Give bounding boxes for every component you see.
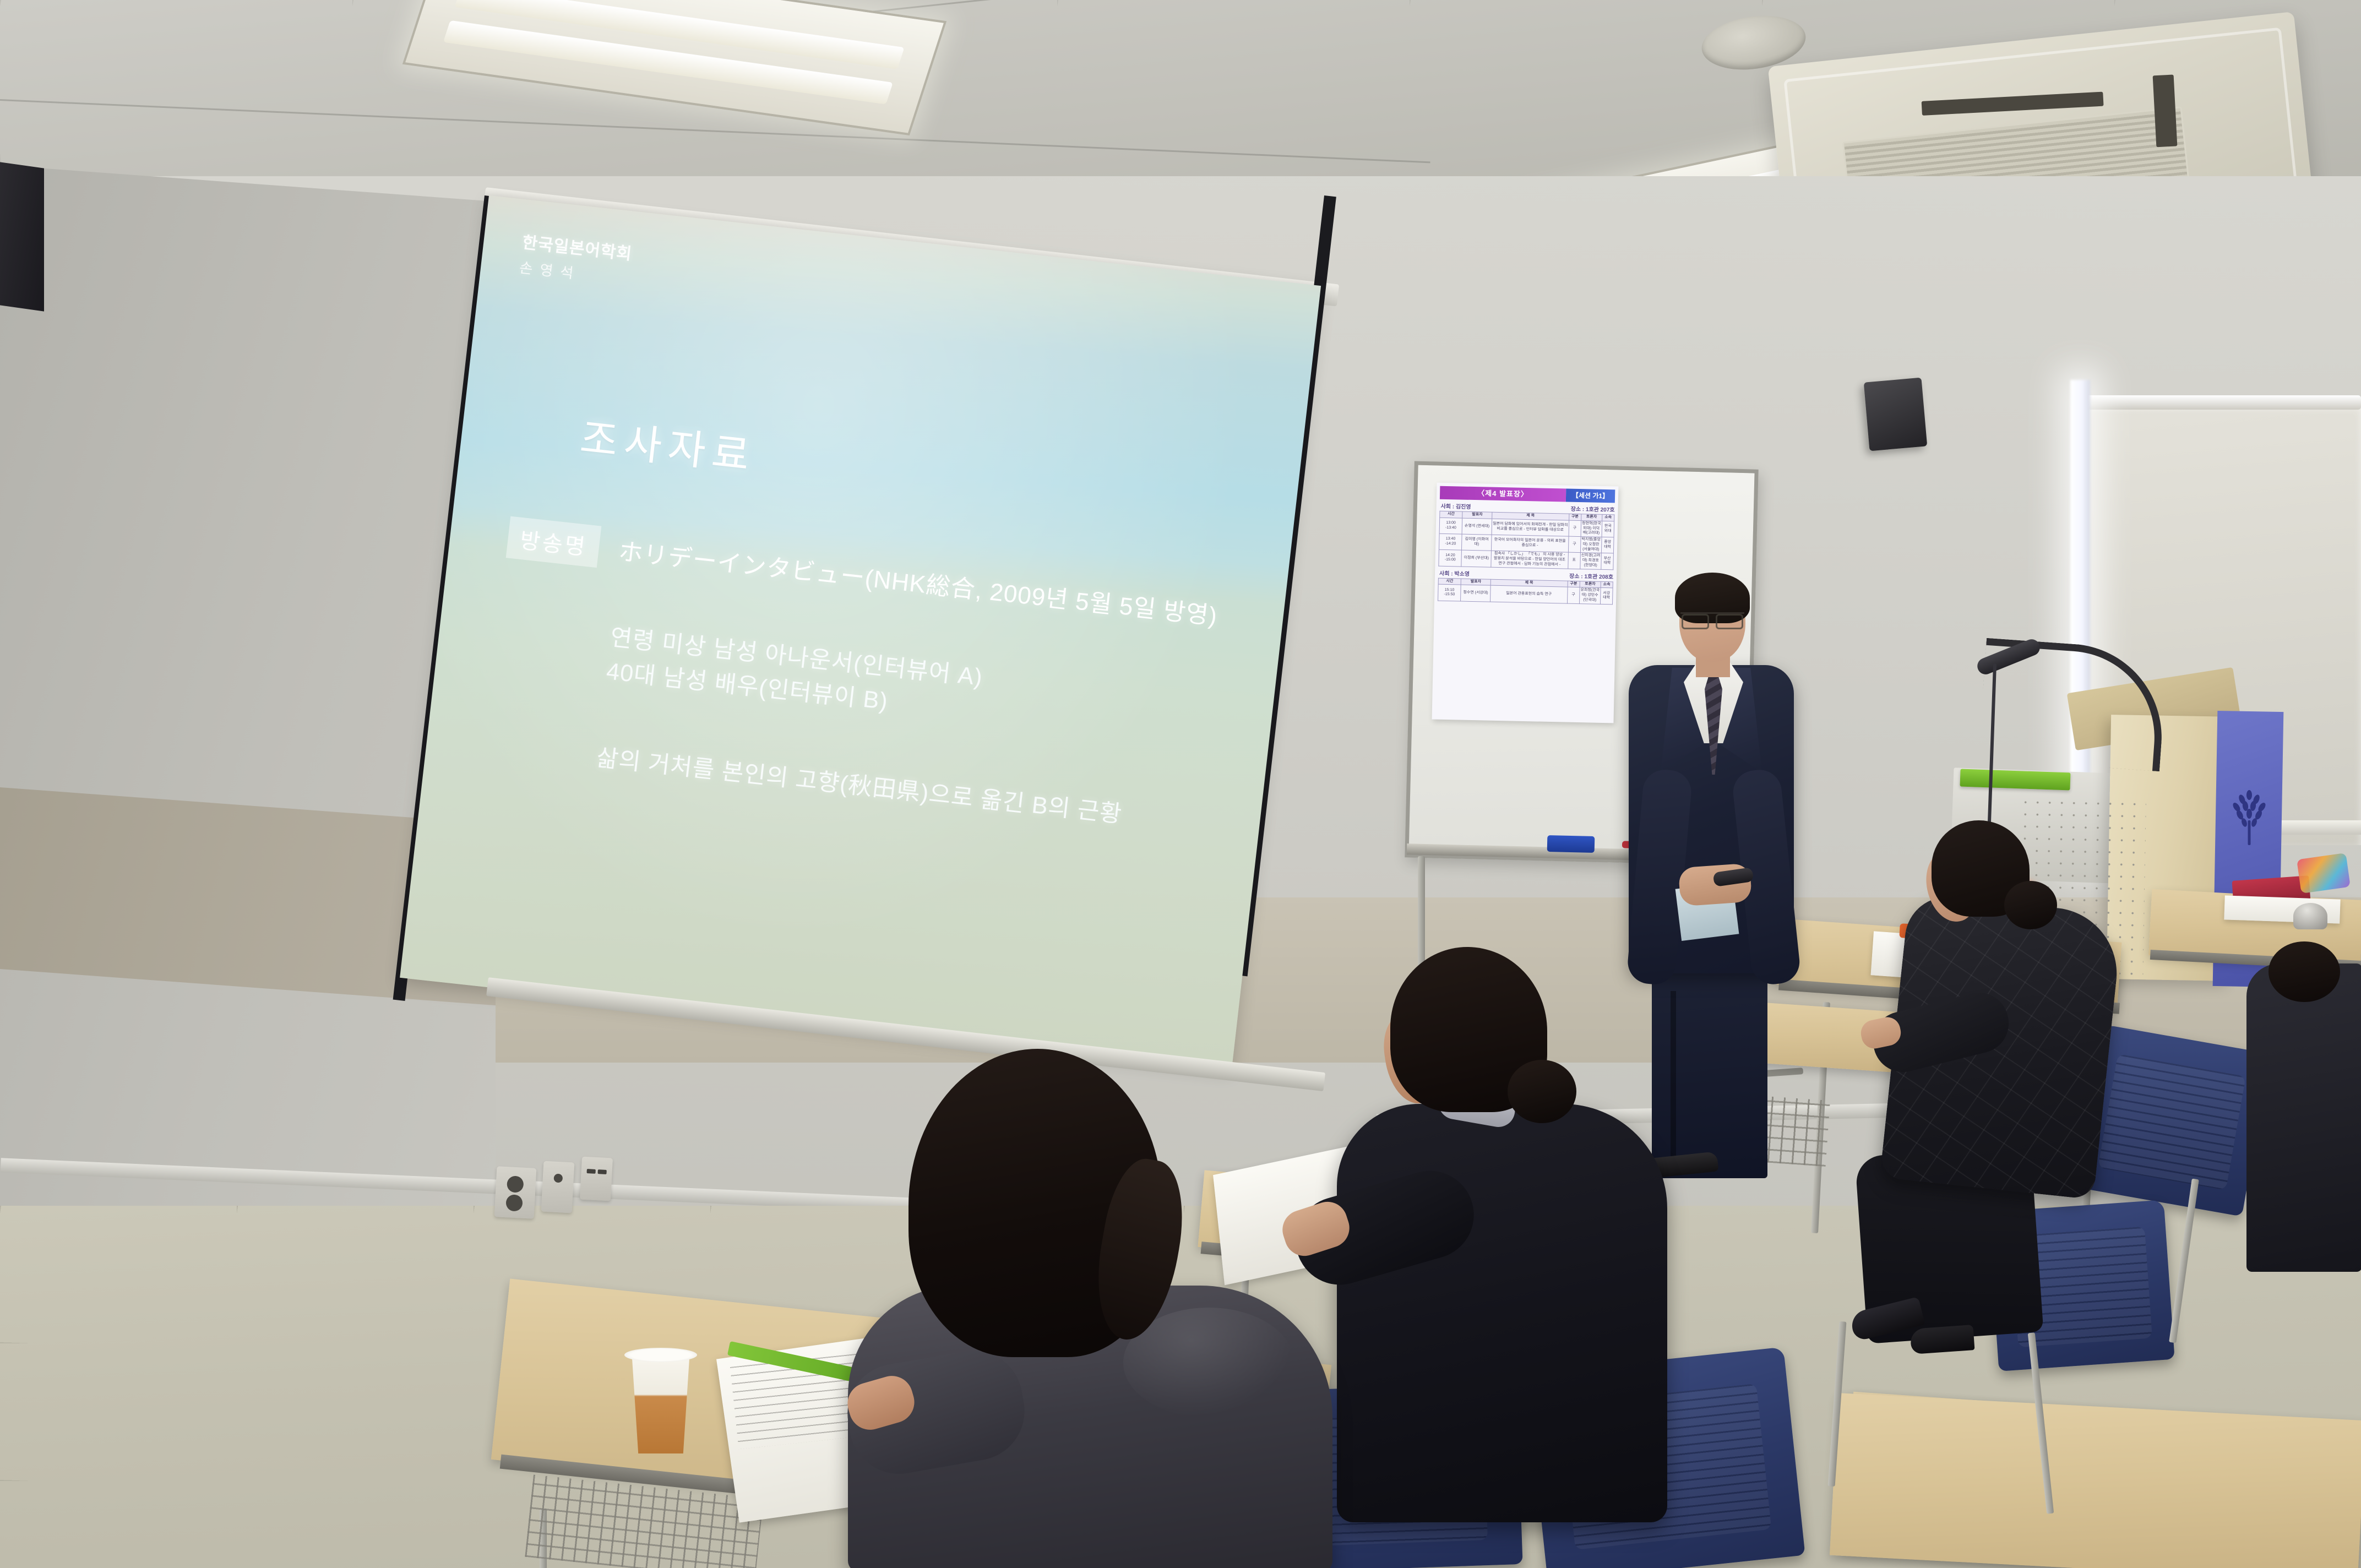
cell-title: 접속사 「しかし」 「でも」 의 사용 양상 - 말뭉치 분석을 바탕으로 - … <box>1491 551 1568 568</box>
cell-discussant: 유희정(건국대) 강민수(단국대) <box>1579 587 1601 604</box>
attendee-head <box>2268 941 2340 1002</box>
cell-title: 한국어 모어화자의 일본어 운용 - 의뢰 표현을 중심으로 - <box>1492 535 1569 552</box>
cell-time: 13:40 -14:20 <box>1439 533 1462 550</box>
poster-header-right: 【세션 가1】 <box>1566 489 1615 503</box>
slide-title: 조사자료 <box>578 405 760 483</box>
cell-affil: 부산 대학 <box>1601 553 1614 570</box>
cell-discussant: 박지영(중앙대) 오정란(서울여대) <box>1580 537 1602 553</box>
eyeglasses-icon <box>1680 612 1744 624</box>
classroom-scene: 한국일본어학회 손 영 석 조사자료 방송명 ホリデーインタビュー(NHK総合,… <box>0 0 2361 1568</box>
col-affil: 소속 <box>1602 514 1614 521</box>
outlet-hole <box>505 1194 523 1212</box>
cell-speaker: 이정희 (부산대) <box>1461 550 1491 567</box>
projection-screen-assembly: 한국일본어학회 손 영 석 조사자료 방송명 ホリデーインタビュー(NHK総合,… <box>474 176 1366 1057</box>
service-bell-icon[interactable] <box>2293 903 2327 929</box>
cell-speaker: 정수연 (서강대) <box>1461 585 1490 601</box>
col-kind: 구분 <box>1569 514 1581 520</box>
high-heel-shoe <box>1910 1325 1975 1354</box>
projected-slide: 한국일본어학회 손 영 석 조사자료 방송명 ホリデーインタビュー(NHK総合,… <box>400 195 1321 1068</box>
poster-section-2-room: 장소 : 1호관 208호 <box>1569 571 1613 580</box>
wall-speaker-icon <box>0 162 44 311</box>
data-port-plate[interactable] <box>580 1157 613 1201</box>
av-port-plate[interactable] <box>541 1161 575 1213</box>
cell-title: 일본어 담화에 있어서의 화제전개 - 한일 담화의 비교를 중심으로 - 인터… <box>1492 519 1569 536</box>
cell-speaker: 손영석 (연세대) <box>1462 518 1492 535</box>
col-affil: 소속 <box>1601 581 1613 588</box>
outlet-hole <box>507 1175 524 1193</box>
poster-header-left: 〈제4 발표장〉 <box>1440 486 1566 502</box>
whiteboard-eraser[interactable] <box>1547 835 1595 853</box>
cell-time: 15:10 -15:50 <box>1438 584 1461 601</box>
attendee-hair-bun <box>2004 881 2057 929</box>
cell-time: 13:00 -13:40 <box>1439 518 1462 534</box>
cell-kind: 구 <box>1569 520 1581 537</box>
col-discussant: 토론자 <box>1581 514 1602 521</box>
col-discussant: 토론자 <box>1580 581 1601 588</box>
desk <box>1830 1393 2361 1568</box>
cell-discussant: 신미경(고려대) 최경호(한양대) <box>1580 553 1602 569</box>
poster-schedule-table-1: 시간 발표자 제 목 구분 토론자 소속 13:00 -13:40 손영석 (연… <box>1438 511 1614 570</box>
cell-kind: 구 <box>1568 536 1581 553</box>
poster-section-1-chair: 사회 : 김진영 <box>1441 502 1471 510</box>
paper-cup[interactable] <box>628 1352 694 1453</box>
table-row: 15:10 -15:50 정수연 (서강대) 일본어 관용표현의 습득 연구 구… <box>1438 584 1613 604</box>
col-time: 시간 <box>1440 511 1462 518</box>
cell-affil: 중앙 대학 <box>1601 537 1614 553</box>
attendee-torso <box>2246 963 2361 1272</box>
poster-section-2-chair: 사회 : 박소영 <box>1439 568 1470 577</box>
attendee-foreground <box>815 1049 1332 1568</box>
attendee-note-taker <box>1839 820 2114 1415</box>
session-schedule-poster: 〈제4 발표장〉 【세션 가1】 사회 : 김진영 장소 : 1호관 207호 … <box>1432 483 1619 723</box>
cell-title: 일본어 관용표현의 습득 연구 <box>1490 585 1568 603</box>
cell-speaker: 김미영 (이화여대) <box>1462 534 1492 551</box>
candy-bag[interactable] <box>2297 853 2351 894</box>
ac-vent <box>2153 74 2178 147</box>
cell-kind: 구 <box>1567 587 1580 603</box>
attendee-reader <box>1288 947 1696 1568</box>
attendee-hair-bun <box>1508 1060 1576 1123</box>
poster-section-1-room: 장소 : 1호관 207호 <box>1571 504 1615 514</box>
port-hole <box>553 1174 563 1183</box>
attendee-jacket <box>1337 1104 1667 1522</box>
cell-kind: 포 <box>1568 552 1580 569</box>
wall-speaker-icon <box>1864 378 1927 451</box>
cell-affil: 서강 대학 <box>1600 588 1613 605</box>
cell-time: 14:20 -15:00 <box>1439 549 1462 566</box>
cell-affil: 한국 외대 <box>1602 521 1614 537</box>
blind-roller-bar[interactable] <box>2076 395 2361 410</box>
col-kind: 구분 <box>1568 581 1580 587</box>
paper-cup-rim <box>624 1348 697 1362</box>
cell-discussant: 정현혁(한국외대) 이덕배(고려대) <box>1581 520 1602 537</box>
poster-schedule-table-2: 시간 발표자 제 목 구분 토론자 소속 15:10 -15:50 정수연 (서… <box>1438 578 1613 605</box>
power-outlet[interactable] <box>494 1166 537 1219</box>
slide-body: 방송명 ホリデーインタビュー(NHK総合, 2009년 5월 5일 방영) 연령… <box>483 516 1266 842</box>
tree-logo-icon <box>2229 788 2270 846</box>
port-slot <box>597 1169 606 1174</box>
attendee-partial <box>2246 963 2361 1349</box>
col-time: 시간 <box>1438 578 1461 585</box>
chair-ribs <box>2098 1054 2246 1190</box>
port-slot <box>586 1169 595 1174</box>
